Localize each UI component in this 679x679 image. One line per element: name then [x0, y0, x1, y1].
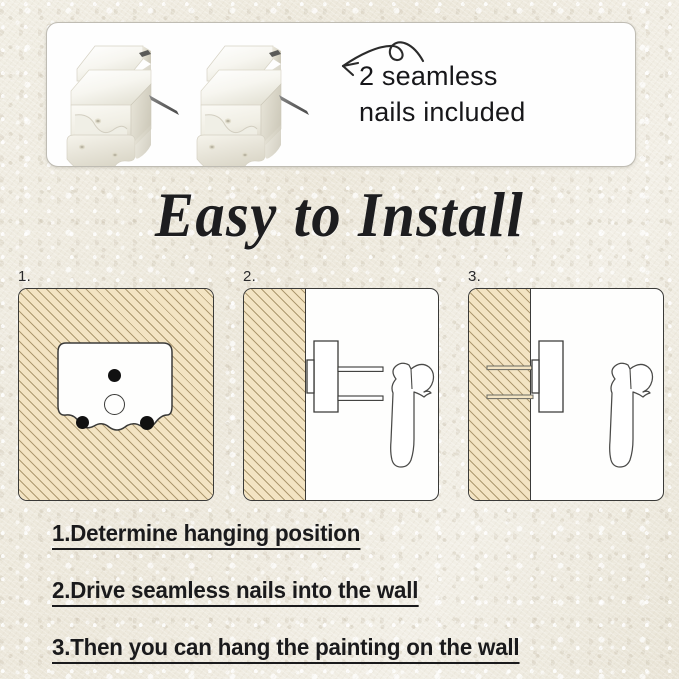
panel-2-contents [244, 289, 439, 501]
drill-dot-bottom-right [140, 416, 154, 430]
page-title: Easy to Install [24, 179, 655, 252]
curly-arrow-icon [297, 33, 427, 95]
hammer-icon [391, 363, 434, 467]
panel-step-2: 2. [243, 270, 439, 502]
nails-included-card: 2 seamless nails included [46, 22, 636, 167]
step-row-2: 2.Drive seamless nails into the wall [52, 577, 652, 634]
panel-2-number: 2. [243, 268, 256, 285]
panel-3-contents [469, 289, 664, 501]
nail-icon-lower [338, 396, 383, 400]
step-text-3: 3.Then you can hang the painting on the … [52, 634, 519, 664]
step-text-2: 2.Drive seamless nails into the wall [52, 577, 418, 607]
hook-side-view-flush-icon [532, 341, 563, 412]
instruction-steps-list: 1.Determine hanging position 2.Drive sea… [52, 520, 652, 679]
panel-1-figure [18, 288, 214, 501]
caption-line-2: nails included [359, 95, 525, 131]
center-ring [104, 394, 125, 415]
step-row-1: 1.Determine hanging position [52, 520, 652, 577]
hammer-icon [610, 363, 653, 467]
panel-step-1: 1. [18, 270, 214, 502]
install-step-panels: 1. 2. [18, 270, 664, 502]
nail-in-wall-icon-lower [487, 395, 533, 399]
panel-3-number: 3. [468, 268, 481, 285]
panel-2-figure [243, 288, 439, 501]
panel-step-3: 3. [468, 270, 664, 502]
hook-plate-front-icon [57, 342, 173, 448]
step-row-3: 3.Then you can hang the painting on the … [52, 634, 652, 679]
hook-side-view-icon [307, 341, 338, 412]
panel-1-number: 1. [18, 268, 31, 285]
nail-icon-upper [338, 367, 383, 371]
drill-dot-top [108, 369, 121, 382]
step-text-1: 1.Determine hanging position [52, 520, 360, 550]
drill-dot-bottom-left [76, 416, 89, 429]
panel-3-figure [468, 288, 664, 501]
nail-in-wall-icon-upper [487, 366, 533, 370]
